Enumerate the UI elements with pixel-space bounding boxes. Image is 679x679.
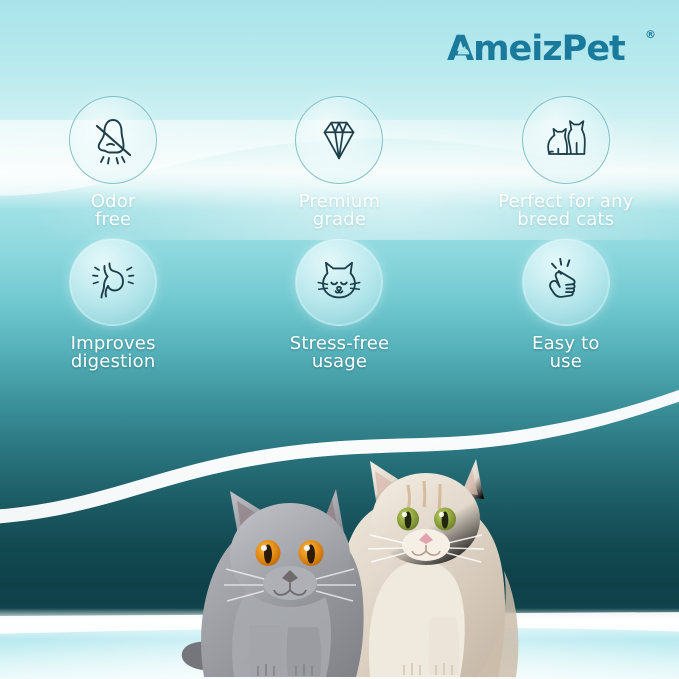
feature-any-breed-cats: Perfect for any breed cats [453,96,679,238]
feature-easy-to-use: Easy to use [453,238,679,380]
feature-label: Improves digestion [71,335,156,372]
two-cats-icon [537,111,595,169]
feature-label: Perfect for any breed cats [498,193,633,230]
snapping-fingers-icon [539,255,593,309]
brand-logo: AmeizPet ® [447,27,656,69]
feature-premium-grade: Premium grade [226,96,452,238]
feature-badge [69,96,157,184]
cream-longhair-cat [336,459,519,677]
brand-name-text: AmeizPet [447,29,625,69]
feature-stress-free-usage: Stress-free usage [226,238,452,380]
feature-badge [522,96,610,184]
product-feature-poster: AmeizPet ® Odor free [0,0,679,679]
grey-british-shorthair-cat [182,489,364,677]
hero-cats-photo [108,379,578,679]
brand-wordmark-icon: AmeizPet [447,27,643,69]
feature-grid: Odor free Premium grade [0,96,679,380]
feature-odor-free: Odor free [0,96,226,238]
stomach-icon [85,254,141,310]
feature-label: Odor free [91,193,136,230]
feature-badge [69,238,157,326]
feature-label: Easy to use [532,335,600,372]
feature-label: Stress-free usage [290,335,390,372]
diamond-icon [312,113,366,167]
cat-face-happy-icon [310,253,368,311]
trademark-symbol: ® [645,29,656,40]
feature-badge [522,238,610,326]
feature-label: Premium grade [299,193,381,230]
feature-badge [295,238,383,326]
feature-badge [295,96,383,184]
nose-no-smell-icon [85,112,141,168]
feature-improves-digestion: Improves digestion [0,238,226,380]
two-cats-illustration [108,379,578,679]
